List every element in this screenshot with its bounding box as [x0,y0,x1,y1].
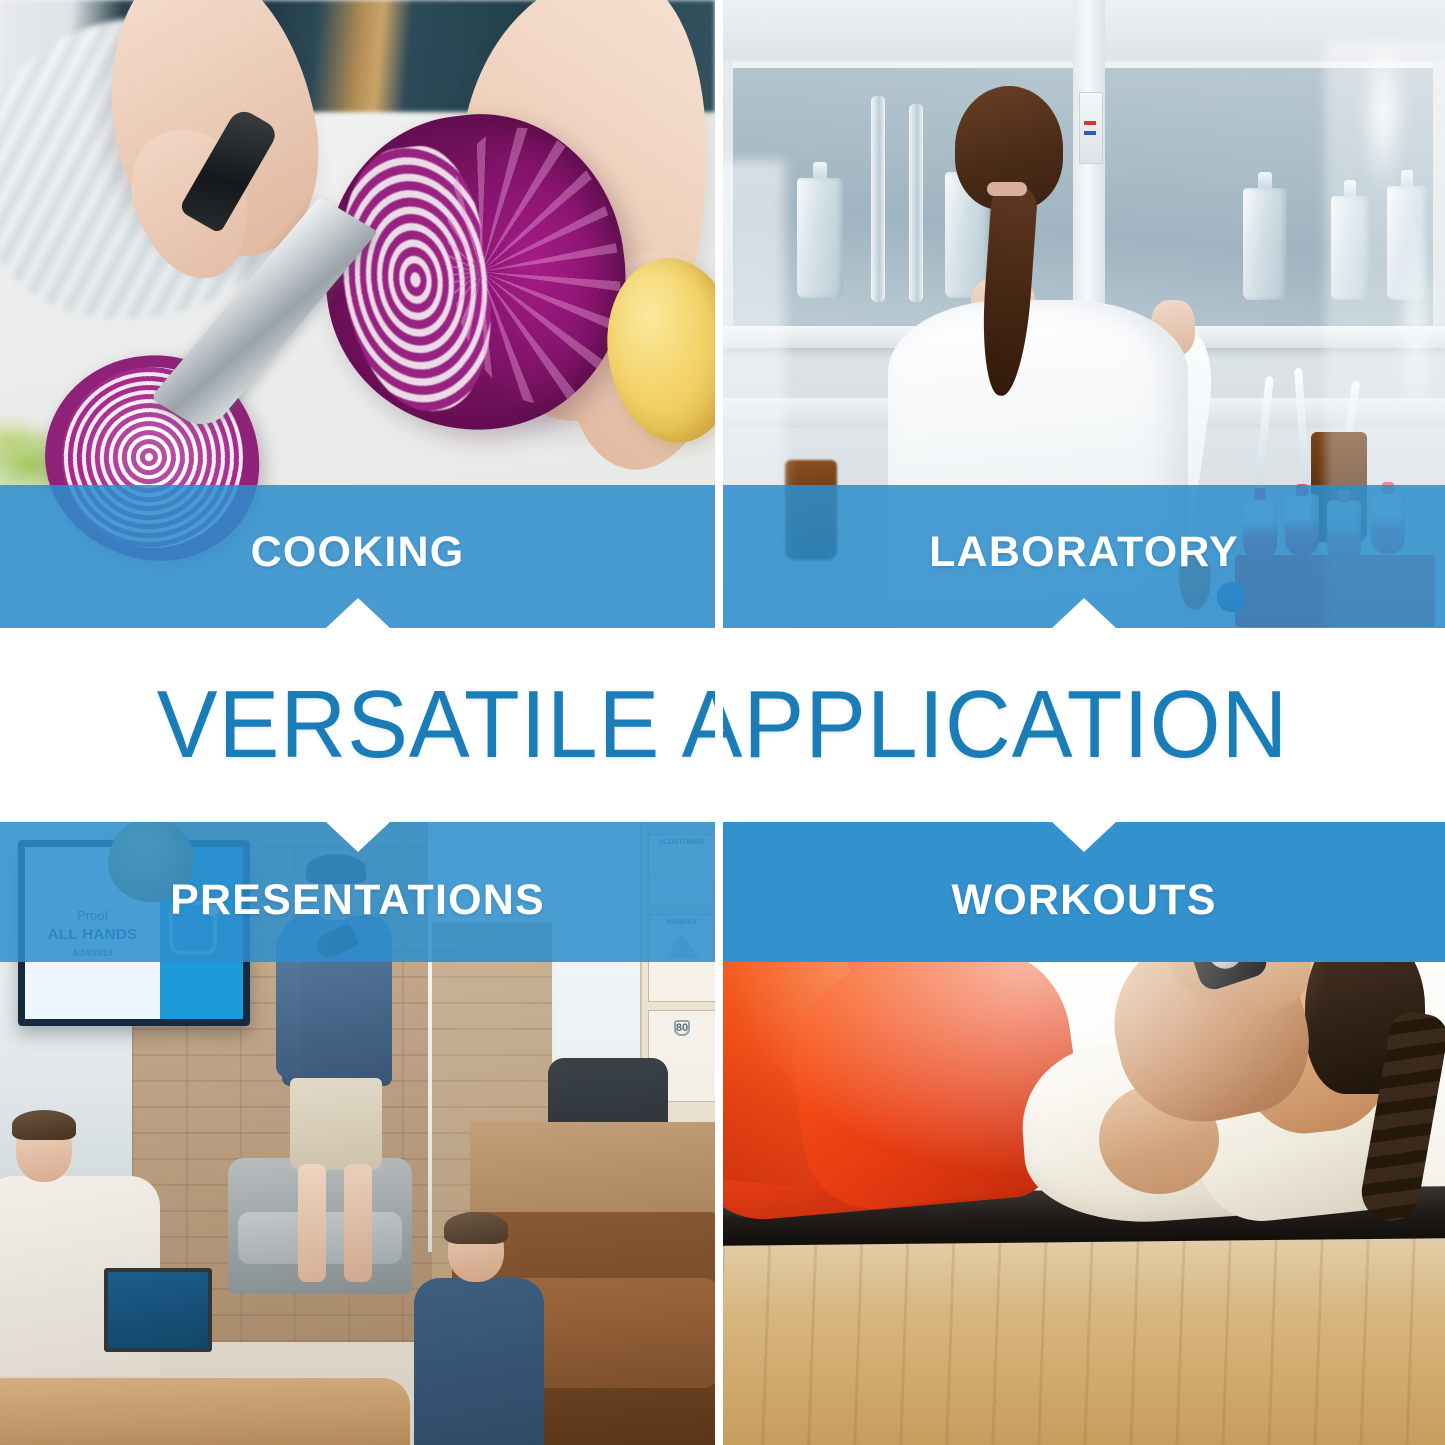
lab-glass-column-1 [871,96,885,302]
banner-cooking: COOKING [0,485,715,628]
lab-cabinet-divider [1073,0,1105,345]
hair-tie [987,182,1027,196]
wall-poster-label: 80 [674,1020,690,1036]
presenter-leg [344,1164,372,1282]
presenter-leg [298,1164,326,1282]
colleague-hair [444,1212,508,1244]
notch-down-icon [1052,822,1116,852]
center-gutter [715,0,723,1445]
banner-label-cooking: COOKING [251,528,465,577]
laptop [104,1268,212,1352]
colleague-torso [414,1278,544,1445]
versatile-application-poster: #CUSTOMER HUNGRY 80 Proof ALL [0,0,1445,1445]
colleague-hair [12,1110,76,1140]
lab-control-panel [1079,92,1103,164]
notch-up-icon [326,598,390,628]
lab-reagent-bottle [1243,188,1287,300]
banner-label-workouts: WORKOUTS [951,876,1216,925]
lab-led-red-icon [1084,121,1096,125]
seated-colleague-right [414,1220,546,1445]
lab-led-blue-icon [1084,131,1096,135]
office-desk [470,1122,715,1220]
notch-up-icon [1052,598,1116,628]
banner-workouts: WORKOUTS [723,822,1445,962]
banner-laboratory: LABORATORY [723,485,1445,628]
banner-label-presentations: PRESENTATIONS [170,876,545,925]
wooden-floor [723,1220,1445,1445]
notch-down-icon [326,822,390,852]
banner-presentations: PRESENTATIONS [0,822,715,962]
presenter-shorts [290,1078,382,1170]
lab-glass-column-2 [909,104,923,302]
conference-table [0,1378,410,1445]
lab-reagent-bottle [797,178,843,298]
banner-label-laboratory: LABORATORY [929,528,1239,577]
